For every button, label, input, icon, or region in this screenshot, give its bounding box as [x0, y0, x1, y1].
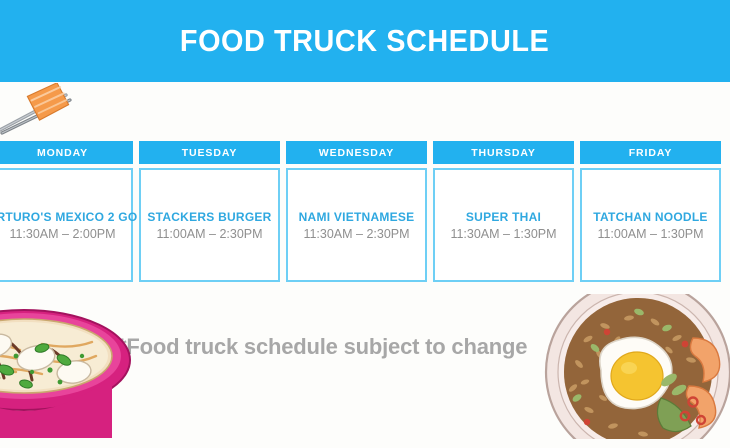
schedule-column-friday: FRIDAY TATCHAN NOODLE 11:00AM – 1:30PM [580, 141, 721, 282]
vendor-hours-thursday: 11:30AM – 1:30PM [450, 227, 556, 241]
schedule-cell-tuesday: STACKERS BURGER 11:00AM – 2:30PM [139, 168, 280, 282]
schedule-cell-monday: ARTURO'S MEXICO 2 GO 11:30AM – 2:00PM [0, 168, 133, 282]
sushi-chopsticks-icon [0, 83, 82, 135]
vendor-name-wednesday: NAMI VIETNAMESE [299, 210, 415, 224]
vendor-name-monday: ARTURO'S MEXICO 2 GO [0, 210, 137, 224]
schedule-column-wednesday: WEDNESDAY NAMI VIETNAMESE 11:30AM – 2:30… [286, 141, 427, 282]
vendor-hours-monday: 11:30AM – 2:00PM [9, 227, 115, 241]
fried-rice-egg-plate-icon [543, 294, 730, 439]
vendor-name-thursday: SUPER THAI [466, 210, 541, 224]
schedule-column-tuesday: TUESDAY STACKERS BURGER 11:00AM – 2:30PM [139, 141, 280, 282]
page-banner: FOOD TRUCK SCHEDULE [0, 0, 730, 82]
day-header-friday: FRIDAY [580, 141, 721, 164]
weekly-schedule-table: MONDAY ARTURO'S MEXICO 2 GO 11:30AM – 2:… [0, 141, 730, 282]
vendor-hours-friday: 11:00AM – 1:30PM [597, 227, 703, 241]
vendor-hours-tuesday: 11:00AM – 2:30PM [156, 227, 262, 241]
day-header-monday: MONDAY [0, 141, 133, 164]
schedule-column-thursday: THURSDAY SUPER THAI 11:30AM – 1:30PM [433, 141, 574, 282]
schedule-cell-wednesday: NAMI VIETNAMESE 11:30AM – 2:30PM [286, 168, 427, 282]
noodle-soup-bowl-icon [0, 298, 140, 448]
vendor-hours-wednesday: 11:30AM – 2:30PM [303, 227, 409, 241]
day-header-tuesday: TUESDAY [139, 141, 280, 164]
page-title: FOOD TRUCK SCHEDULE [180, 23, 549, 59]
vendor-name-friday: TATCHAN NOODLE [593, 210, 707, 224]
day-header-wednesday: WEDNESDAY [286, 141, 427, 164]
day-header-thursday: THURSDAY [433, 141, 574, 164]
schedule-cell-thursday: SUPER THAI 11:30AM – 1:30PM [433, 168, 574, 282]
schedule-cell-friday: TATCHAN NOODLE 11:00AM – 1:30PM [580, 168, 721, 282]
vendor-name-tuesday: STACKERS BURGER [147, 210, 271, 224]
schedule-column-monday: MONDAY ARTURO'S MEXICO 2 GO 11:30AM – 2:… [0, 141, 133, 282]
schedule-disclaimer: *Food truck schedule subject to change [118, 334, 527, 360]
